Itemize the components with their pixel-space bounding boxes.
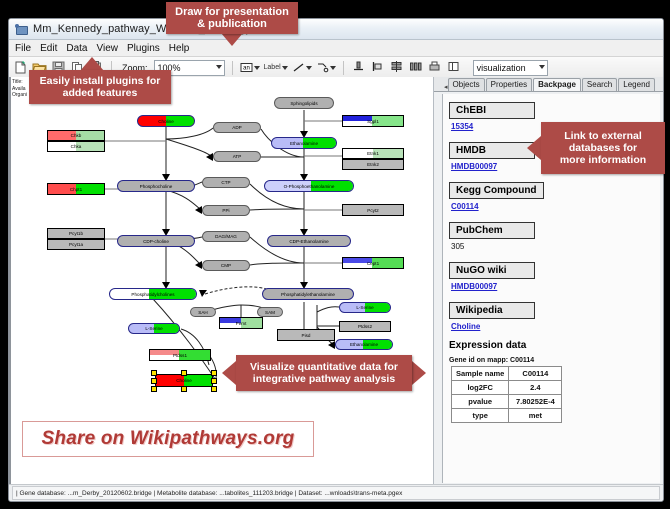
gene-chkb-label: Chkb: [71, 133, 82, 138]
callout-links-line2: databases for: [569, 142, 637, 154]
selection-handle-w[interactable]: [151, 378, 157, 384]
node-phosphatidylethanolamine-label: Phosphatidylethanolamine: [281, 292, 335, 297]
gene-ptdss2[interactable]: Ptdss2: [339, 321, 391, 332]
expression-data-title: Expression data: [449, 340, 654, 351]
callout-visualize-arrow-right: [412, 361, 426, 385]
node-sphingolipids[interactable]: Sphingolipids: [274, 97, 334, 109]
visualization-value: visualization: [477, 63, 526, 73]
gene-pcyt1a-label: Pcyt1a: [69, 242, 83, 247]
node-l-serine-right[interactable]: L-Serine: [339, 302, 391, 313]
callout-install-plugins: Easily install plugins for added feature…: [29, 70, 171, 104]
backpage-heading-chebi: ChEBI: [449, 102, 535, 119]
node-choline-selected-label: Choline: [176, 378, 192, 383]
table-cell-key: log2FC: [452, 381, 509, 395]
gene-pemt[interactable]: Pemt: [219, 317, 263, 329]
node-ppi[interactable]: PPi: [202, 205, 250, 216]
chevron-down-icon: [216, 65, 222, 69]
node-ethanolamine-lower-label: Ethanolamine: [350, 342, 378, 347]
node-l-serine-left[interactable]: L-Serine: [128, 323, 180, 334]
backpage-link-nugo[interactable]: HMDB00097: [451, 282, 654, 291]
menu-edit[interactable]: Edit: [40, 43, 57, 54]
gene-pcyt1a[interactable]: Pcyt1a: [47, 239, 105, 250]
tab-legend[interactable]: Legend: [618, 78, 655, 91]
node-phosphatidylcholines[interactable]: Phosphatidylcholines: [109, 288, 197, 300]
selection-handle-nw[interactable]: [151, 370, 157, 376]
app-icon: [15, 23, 28, 36]
node-sah-label: SAH: [198, 310, 207, 315]
callout-plugins-line2: added features: [63, 87, 138, 99]
callout-visualize-line1: Visualize quantitative data for: [250, 361, 398, 373]
align-left-icon[interactable]: [370, 60, 385, 75]
gene-pcyt1b[interactable]: Pcyt1b: [47, 228, 105, 239]
node-o-phosphoethanolamine[interactable]: O-Phosphoethanolamine: [264, 180, 354, 192]
node-adp[interactable]: ADP: [213, 122, 261, 133]
callout-external-links: Link to external databases for more info…: [541, 122, 665, 174]
selection-handle-se[interactable]: [211, 386, 217, 392]
align-top-icon[interactable]: [351, 60, 366, 75]
callout-draw-line1: Draw for presentation: [175, 6, 289, 18]
visualization-combo[interactable]: visualization: [473, 60, 548, 76]
callout-plugins-line1: Easily install plugins for: [40, 75, 161, 87]
gene-pcyt2[interactable]: Pcyt2: [342, 204, 404, 216]
gene-chkb[interactable]: Chkb: [47, 130, 105, 141]
gene-etnk1[interactable]: Etnk1: [342, 148, 404, 159]
gene-chka-label: Chka: [71, 144, 82, 149]
gene-chka[interactable]: Chka: [47, 141, 105, 152]
chevron-down-icon: [282, 66, 288, 70]
menu-view[interactable]: View: [96, 43, 118, 54]
node-atp-label: ATP: [233, 154, 242, 159]
table-cell-value: 7.80252E-4: [509, 395, 562, 409]
table-cell-key: type: [452, 409, 509, 423]
data-node-tool[interactable]: an: [240, 61, 260, 74]
node-cdp-ethanolamine[interactable]: CDP-Ethanolamine: [267, 235, 351, 247]
menu-data[interactable]: Data: [66, 43, 87, 54]
backpage-link-kegg[interactable]: C00114: [451, 202, 654, 211]
backpage-heading-pubchem: PubChem: [449, 222, 535, 239]
callout-links-line1: Link to external: [564, 130, 642, 142]
node-dag-mag[interactable]: DAG/MAG: [202, 231, 250, 242]
gene-chpt1[interactable]: Chpt1: [47, 183, 105, 195]
node-sah[interactable]: SAH: [190, 307, 216, 317]
backpage-heading-nugo: NuGO wiki: [449, 262, 535, 279]
node-phosphocholine-label: Phosphocholine: [140, 184, 173, 189]
backpage-heading-kegg: Kegg Compound: [449, 182, 544, 199]
svg-text:an: an: [243, 66, 250, 72]
callout-share-text: Share on Wikipathways.org: [42, 428, 295, 450]
gene-pemt-label: Pemt: [236, 321, 247, 326]
node-sam[interactable]: SAM: [257, 307, 283, 317]
selection-handle-n[interactable]: [181, 370, 187, 376]
gene-ptdss1[interactable]: Ptdss1: [149, 349, 211, 361]
node-ppi-label: PPi: [222, 208, 229, 213]
callout-draw-line2: & publication: [197, 18, 267, 30]
gene-ptdss2-label: Ptdss2: [358, 324, 372, 329]
callout-draw-arrow: [221, 33, 243, 46]
menu-file[interactable]: File: [15, 43, 31, 54]
expression-table: Sample name C00114 log2FC 2.4 pvalue 7.8…: [451, 366, 562, 423]
node-dag-mag-label: DAG/MAG: [215, 234, 237, 239]
new-file-icon[interactable]: [13, 60, 28, 75]
gene-sgpl1[interactable]: Sgpl1: [342, 115, 404, 127]
gene-id-label: Gene id on mapp: C00114: [449, 357, 654, 364]
backpage-value-pubchem: 305: [451, 242, 654, 251]
backpage-heading-hmdb: HMDB: [449, 142, 535, 159]
node-o-phosphoethanolamine-label: O-Phosphoethanolamine: [284, 184, 335, 189]
node-cdp-choline[interactable]: CDP-choline: [117, 235, 195, 247]
table-row: type met: [452, 409, 562, 423]
title-bar: Mm_Kennedy_pathway_WP1771_45176.gpml: [9, 19, 663, 40]
gene-pisd-label: Pisd: [302, 333, 311, 338]
gene-ptdss1-label: Ptdss1: [173, 353, 187, 358]
gene-chpt1-label: Chpt1: [70, 187, 82, 192]
table-cell-value: 2.4: [509, 381, 562, 395]
tab-search[interactable]: Search: [582, 78, 617, 91]
node-l-serine-right-label: L-Serine: [356, 305, 373, 310]
label-tool-text: Label: [264, 64, 281, 71]
node-cmp-label: CMP: [221, 263, 231, 268]
gene-etnk2[interactable]: Etnk2: [342, 159, 404, 170]
node-cdp-choline-label: CDP-choline: [143, 239, 169, 244]
node-cmp[interactable]: CMP: [202, 260, 250, 271]
callout-share-wikipathways: Share on Wikipathways.org: [22, 421, 314, 457]
backpage-heading-wikipedia: Wikipedia: [449, 302, 535, 319]
print-icon[interactable]: [427, 60, 442, 75]
callout-visualize-arrow-left: [222, 361, 236, 385]
gene-pcyt1b-label: Pcyt1b: [69, 231, 83, 236]
node-ethanolamine-label: Ethanolamine: [290, 141, 318, 146]
tab-backpage[interactable]: Backpage: [533, 78, 581, 91]
menu-bar: File Edit Data View Plugins Help: [9, 40, 663, 57]
line-tool[interactable]: [292, 61, 312, 74]
side-panel-tabs: ◂ Objects Properties Backpage Search Leg…: [434, 77, 663, 92]
menu-plugins[interactable]: Plugins: [127, 43, 160, 54]
callout-visualize-data: Visualize quantitative data for integrat…: [236, 355, 412, 391]
tab-properties[interactable]: Properties: [486, 78, 532, 91]
selection-handle-sw[interactable]: [151, 386, 157, 392]
status-bar: | Gene database: ...m_Derby_20120602.bri…: [9, 484, 663, 501]
chevron-down-icon: [306, 66, 312, 70]
table-cell-key: Sample name: [452, 367, 509, 381]
table-row: log2FC 2.4: [452, 381, 562, 395]
selection-handle-s[interactable]: [181, 386, 187, 392]
table-cell-value: C00114: [509, 367, 562, 381]
toolbar-separator-2: [232, 61, 233, 75]
callout-links-line3: more information: [560, 154, 646, 166]
node-choline-label: Choline: [158, 119, 174, 124]
node-atp[interactable]: ATP: [213, 151, 261, 162]
node-sphingolipids-label: Sphingolipids: [290, 101, 317, 106]
table-row: pvalue 7.80252E-4: [452, 395, 562, 409]
status-text: | Gene database: ...m_Derby_20120602.bri…: [12, 486, 660, 500]
node-ethanolamine-lower[interactable]: Ethanolamine: [335, 339, 393, 350]
callout-plugins-arrow: [80, 57, 104, 71]
node-ctp-label: CTP: [221, 180, 230, 185]
label-tool[interactable]: Label: [264, 64, 288, 71]
selection-handle-ne[interactable]: [211, 370, 217, 376]
table-cell-value: met: [509, 409, 562, 423]
chevron-down-icon: [254, 66, 260, 70]
node-choline[interactable]: Choline: [137, 115, 195, 127]
stack-icon[interactable]: [389, 60, 404, 75]
gene-etnk1-label: Etnk1: [367, 151, 379, 156]
gene-pcyt2-label: Pcyt2: [367, 208, 379, 213]
tab-scroll-left-icon[interactable]: ◂: [444, 83, 448, 91]
anchor-tool[interactable]: [316, 61, 336, 74]
callout-draw-for-publication: Draw for presentation & publication: [166, 2, 298, 34]
node-cdp-ethanolamine-label: CDP-Ethanolamine: [289, 239, 328, 244]
screenshot-root: Mm_Kennedy_pathway_WP1771_45176.gpml Fil…: [0, 0, 670, 509]
node-adp-label: ADP: [232, 125, 241, 130]
node-phosphocholine[interactable]: Phosphocholine: [117, 180, 195, 192]
gene-cept1[interactable]: Cept1: [342, 257, 404, 269]
node-l-serine-left-label: L-Serine: [145, 326, 162, 331]
gene-cept1-label: Cept1: [367, 261, 379, 266]
table-row: Sample name C00114: [452, 367, 562, 381]
gene-pisd[interactable]: Pisd: [277, 329, 335, 341]
tab-objects[interactable]: Objects: [448, 78, 485, 91]
distribute-icon[interactable]: [408, 60, 423, 75]
gene-sgpl1-label: Sgpl1: [367, 119, 379, 124]
backpage-link-wikipedia[interactable]: Choline: [451, 322, 654, 331]
chevron-down-icon: [330, 66, 336, 70]
toolbar-separator-3: [343, 61, 344, 75]
table-cell-key: pvalue: [452, 395, 509, 409]
callout-links-arrow: [527, 136, 541, 160]
chevron-down-icon: [539, 65, 545, 69]
menu-help[interactable]: Help: [169, 43, 190, 54]
properties-icon[interactable]: [446, 60, 461, 75]
node-ctp[interactable]: CTP: [202, 177, 250, 188]
callout-visualize-line2: integrative pathway analysis: [253, 373, 395, 385]
node-phosphatidylethanolamine[interactable]: Phosphatidylethanolamine: [262, 288, 354, 300]
node-ethanolamine[interactable]: Ethanolamine: [271, 137, 337, 149]
selection-handle-e[interactable]: [211, 378, 217, 384]
node-phosphatidylcholines-label: Phosphatidylcholines: [131, 292, 174, 297]
gene-etnk2-label: Etnk2: [367, 162, 379, 167]
node-sam-label: SAM: [265, 310, 275, 315]
